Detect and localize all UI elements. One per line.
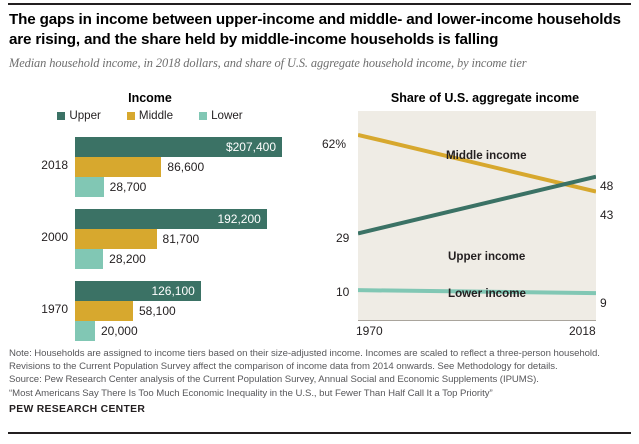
x-tick-2018: 2018: [569, 324, 596, 338]
legend-swatch-lower: [199, 112, 207, 120]
middle-end-value: 43: [600, 208, 613, 222]
line-middle: [358, 135, 596, 192]
bar-group-2000: 2000192,20081,70028,200: [0, 209, 320, 269]
upper-start-value: 29: [336, 231, 349, 245]
legend-item-lower: Lower: [199, 109, 243, 122]
bar-lower-2018: [75, 177, 104, 197]
lower-end-value: 9: [600, 296, 607, 310]
pew-research-center-brand: PEW RESEARCH CENTER: [9, 404, 145, 415]
legend-swatch-middle: [127, 112, 135, 120]
footnotes: Note: Households are assigned to income …: [9, 347, 629, 400]
legend-label-middle: Middle: [139, 109, 173, 122]
x-axis-line: [358, 320, 596, 321]
legend-swatch-upper: [57, 112, 65, 120]
upper-end-value: 48: [600, 179, 613, 193]
bar-group-1970: 1970126,10058,10020,000: [0, 281, 320, 341]
legend-label-lower: Lower: [211, 109, 243, 122]
bar-value-label-lower-2018: 28,700: [110, 180, 147, 194]
bar-middle-1970: [75, 301, 133, 321]
bar-group-year-label: 1970: [0, 302, 68, 316]
bar-group-2018: 2018$207,40086,60028,700: [0, 137, 320, 197]
series-label-middle: Middle income: [446, 149, 527, 162]
bar-value-label-middle-2000: 81,700: [163, 232, 200, 246]
bar-chart-title: Income: [0, 91, 300, 105]
line-chart-title: Share of U.S. aggregate income: [350, 91, 620, 105]
bar-lower-1970: [75, 321, 95, 341]
series-label-lower: Lower income: [448, 287, 526, 300]
bar-value-label-upper-1970: 126,100: [151, 284, 194, 298]
bar-value-label-middle-1970: 58,100: [139, 304, 176, 318]
bar-middle-2018: [75, 157, 161, 177]
report-title-line: “Most Americans Say There Is Too Much Ec…: [9, 387, 629, 400]
top-rule: [8, 3, 631, 5]
legend-item-middle: Middle: [127, 109, 173, 122]
bar-value-label-upper-2018: $207,400: [226, 140, 276, 154]
bar-groups: 2018$207,40086,60028,7002000192,20081,70…: [0, 137, 320, 353]
page-title: The gaps in income between upper-income …: [9, 10, 623, 50]
bar-value-label-lower-2000: 28,200: [109, 252, 146, 266]
note-line-2: Revisions to the Current Population Surv…: [9, 360, 629, 373]
bar-group-year-label: 2000: [0, 230, 68, 244]
line-upper: [358, 177, 596, 234]
series-label-upper: Upper income: [448, 250, 525, 263]
x-tick-1970: 1970: [356, 324, 383, 338]
bar-value-label-middle-2018: 86,600: [167, 160, 204, 174]
source-line: Source: Pew Research Center analysis of …: [9, 373, 629, 386]
middle-start-value: 62%: [322, 137, 346, 151]
aggregate-income-line-chart: Share of U.S. aggregate income 62% 29 10…: [320, 85, 639, 335]
legend-item-upper: Upper: [57, 109, 101, 122]
bar-value-label-upper-2000: 192,200: [217, 212, 260, 226]
bar-lower-2000: [75, 249, 103, 269]
legend-label-upper: Upper: [69, 109, 101, 122]
bottom-rule: [8, 432, 631, 434]
note-line-1: Note: Households are assigned to income …: [9, 347, 629, 360]
page-subtitle: Median household income, in 2018 dollars…: [9, 56, 629, 71]
bar-middle-2000: [75, 229, 157, 249]
bar-chart-legend: Upper Middle Lower: [0, 109, 300, 122]
bar-group-year-label: 2018: [0, 158, 68, 172]
bar-value-label-lower-1970: 20,000: [101, 324, 138, 338]
lower-start-value: 10: [336, 285, 349, 299]
income-bar-chart: Income Upper Middle Lower 2018$207,40086…: [0, 85, 320, 335]
